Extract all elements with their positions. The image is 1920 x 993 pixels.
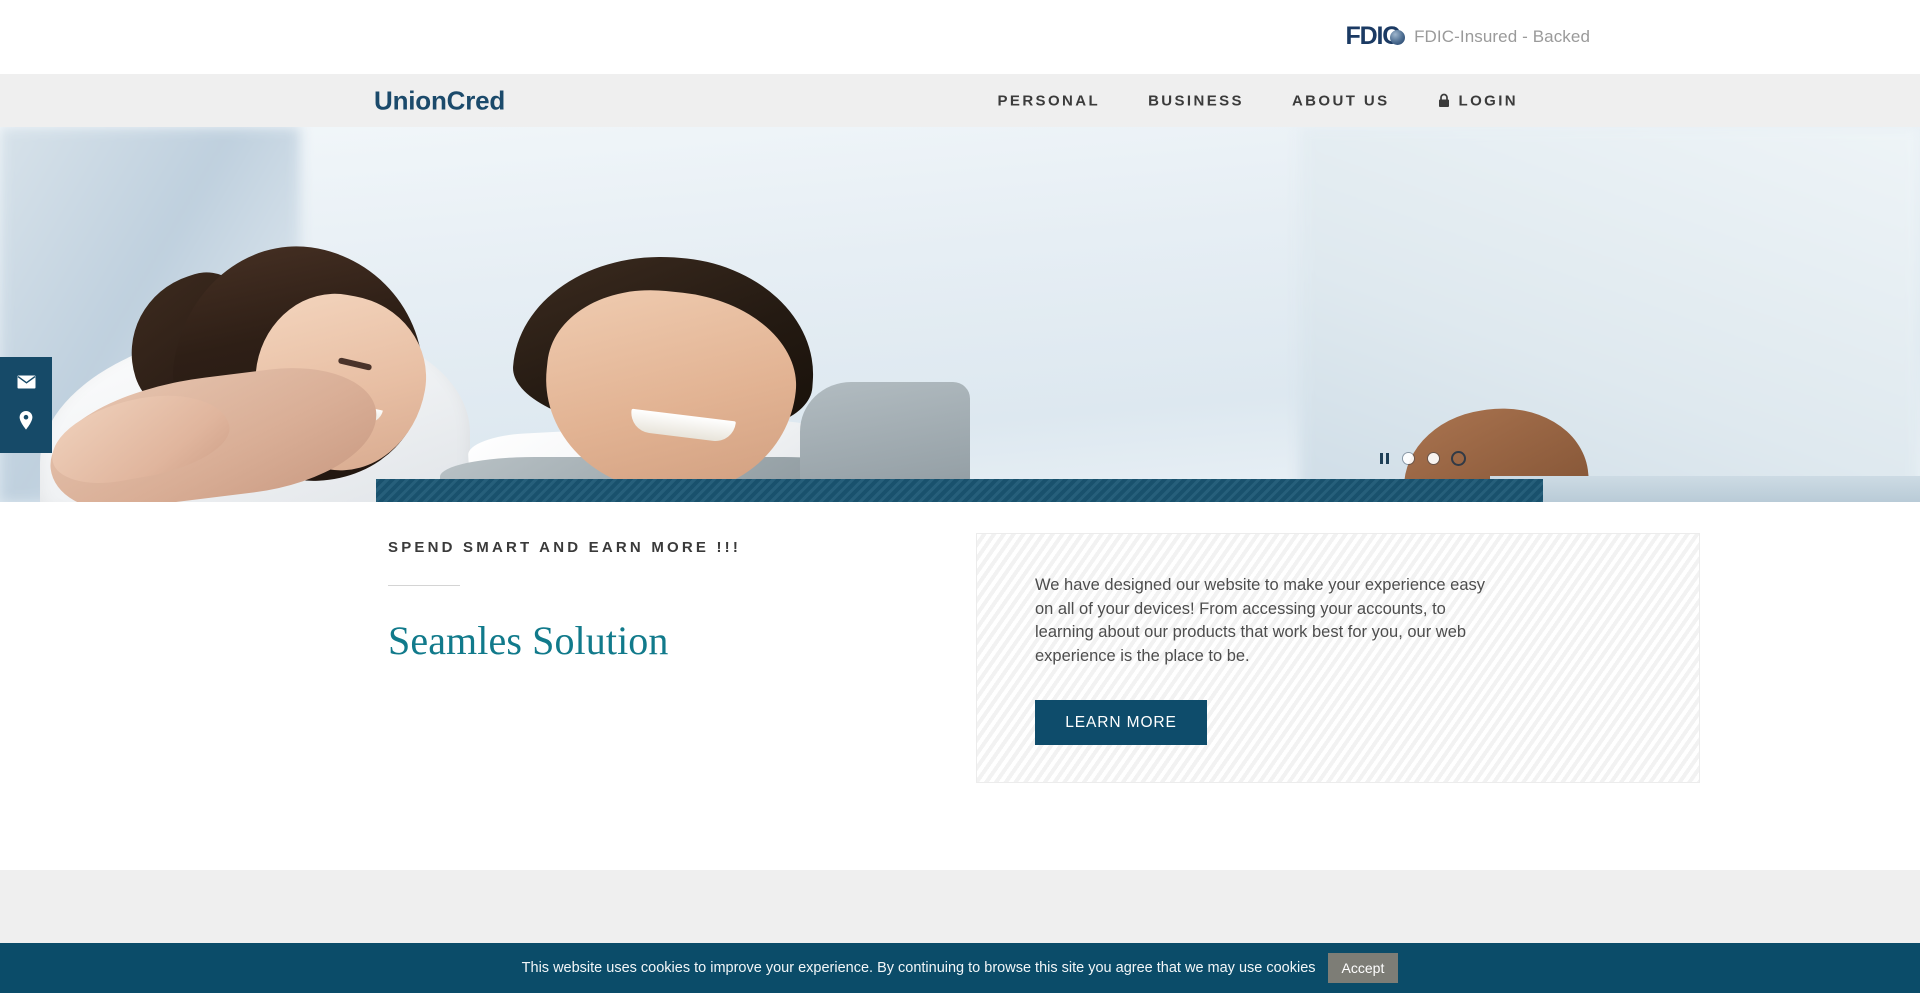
nav-label: LOGIN [1459,92,1519,109]
map-pin-icon [19,411,33,435]
side-contact-rail [0,357,52,453]
nav-label: BUSINESS [1148,92,1244,109]
nav-item-business[interactable]: BUSINESS [1124,92,1268,109]
nav-label: PERSONAL [998,92,1101,109]
hero-carousel: Sweet Home Sweet Home BRINGING PEOPLE AN… [0,127,1920,502]
contact-email-button[interactable] [17,375,36,394]
fdic-label: FDIC-Insured - Backed [1414,27,1590,47]
site-header: UnionCred PERSONAL BUSINESS ABOUT US LOG… [0,74,1920,127]
promo-card-body: We have designed our website to make you… [1035,574,1505,668]
carousel-dot-3[interactable] [1453,453,1464,464]
nav-item-about-us[interactable]: ABOUT US [1268,92,1414,109]
intro-column: SPEND SMART AND EARN MORE !!! Seamles So… [388,539,948,664]
nav-label: ABOUT US [1292,92,1390,109]
section-headline: Seamles Solution [388,617,948,664]
find-location-button[interactable] [19,411,33,435]
nav-item-login[interactable]: LOGIN [1414,92,1543,109]
lock-icon [1438,94,1450,108]
main-content: SPEND SMART AND EARN MORE !!! Seamles So… [0,502,1920,870]
envelope-icon [17,375,36,394]
cookie-accept-button[interactable]: Accept [1328,953,1399,983]
main-navigation: PERSONAL BUSINESS ABOUT US LOGIN [974,92,1542,109]
pause-icon[interactable] [1380,453,1389,464]
section-eyebrow: SPEND SMART AND EARN MORE !!! [388,539,948,556]
page-root: FDIC FDIC-Insured - Backed UnionCred PER… [0,0,1920,993]
promo-card: We have designed our website to make you… [976,533,1700,783]
top-utility-bar: FDIC FDIC-Insured - Backed [0,0,1920,74]
hero-photo-backdrop-right [1300,127,1920,502]
section-divider [388,585,460,586]
promo-learn-more-button[interactable]: LEARN MORE [1035,700,1207,745]
carousel-dot-1[interactable] [1403,453,1414,464]
cookie-message: This website uses cookies to improve you… [522,960,1328,976]
nav-item-personal[interactable]: PERSONAL [974,92,1125,109]
carousel-dot-2[interactable] [1428,453,1439,464]
carousel-controls[interactable] [1380,453,1464,464]
brand-logo[interactable]: UnionCred [374,85,505,116]
fdic-badge: FDIC FDIC-Insured - Backed [1346,25,1590,50]
hero-caption-panel: Sweet Home Sweet Home BRINGING PEOPLE AN… [376,479,1543,502]
lower-grey-band [0,870,1920,943]
fdic-logo-icon: FDIC [1346,24,1406,49]
cookie-consent-bar: This website uses cookies to improve you… [0,943,1920,993]
